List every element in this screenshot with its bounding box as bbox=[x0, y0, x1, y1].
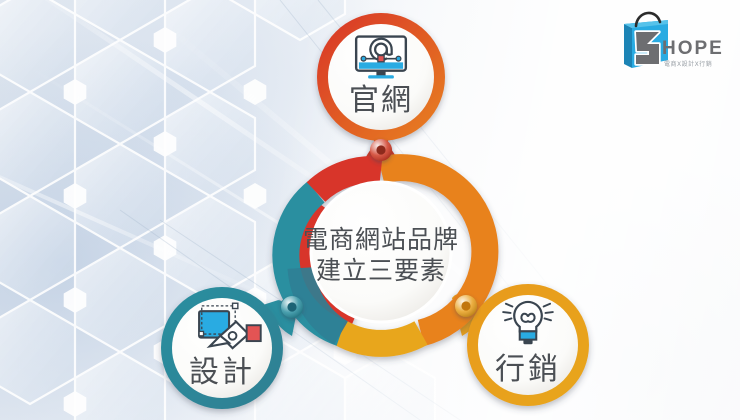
knob-right bbox=[455, 295, 477, 317]
center-title-line2: 建立三要素 bbox=[316, 256, 446, 285]
knob-left bbox=[281, 296, 303, 318]
knob-top bbox=[370, 139, 392, 161]
logo-tagline: 電商X設計X行銷 bbox=[664, 59, 712, 68]
ring-segment-amber bbox=[341, 333, 421, 343]
node-right-label: 行銷 bbox=[495, 352, 561, 387]
center-title-line1: 電商網站品牌 bbox=[303, 225, 459, 254]
infographic-canvas: 官網 設計 bbox=[0, 0, 740, 420]
node-left-label: 設計 bbox=[189, 355, 255, 390]
logo-wordmark: HOPE bbox=[662, 38, 724, 60]
node-top-label: 官網 bbox=[349, 83, 413, 118]
3hope-logo[interactable]: HOPE 電商X設計X行銷 bbox=[606, 6, 732, 80]
